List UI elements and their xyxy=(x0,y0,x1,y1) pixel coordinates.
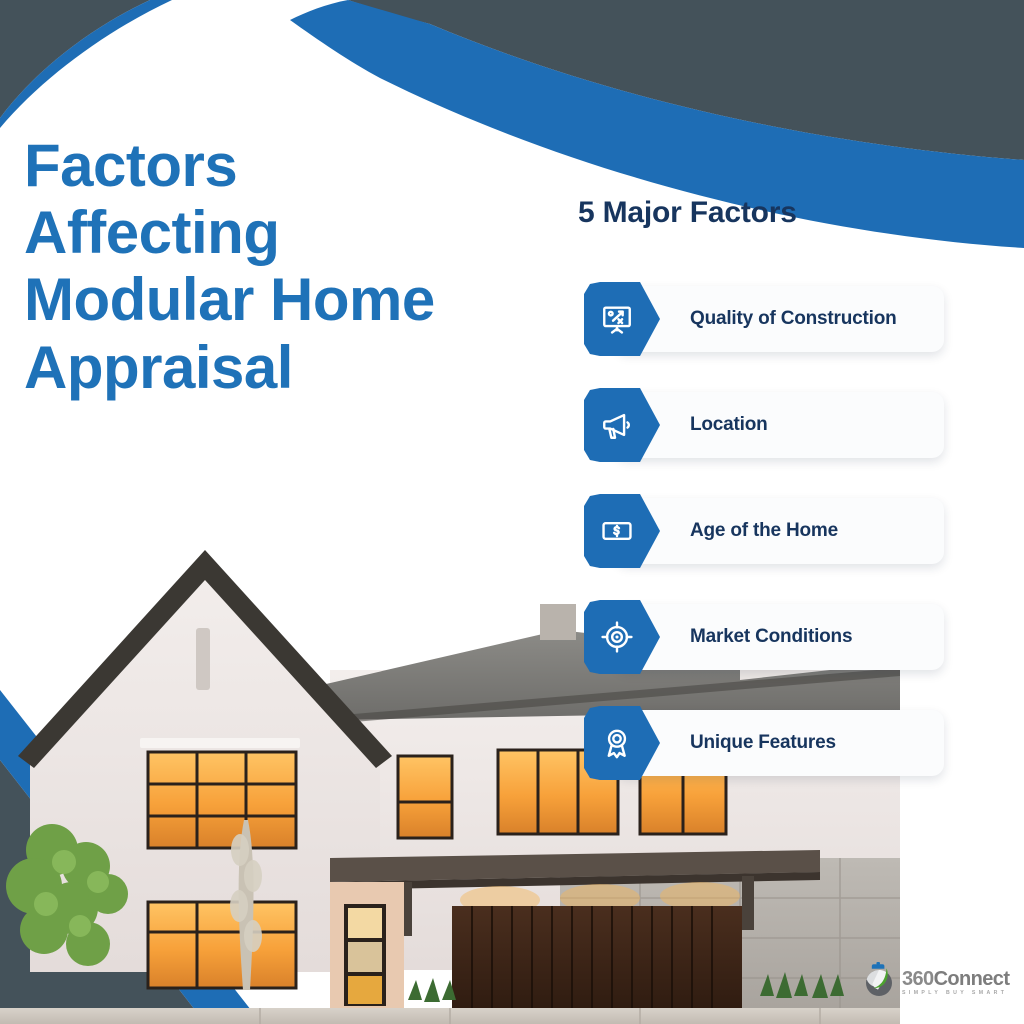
factor-label: Age of the Home xyxy=(690,520,838,542)
logo-tagline: SIMPLY BUY SMART xyxy=(902,991,1009,996)
factors-list: Quality of Construction Location xyxy=(584,282,944,812)
card-background xyxy=(616,392,944,458)
title-line-3: Modular Home xyxy=(24,266,564,333)
infographic-canvas: Factors Affecting Modular Home Appraisal… xyxy=(0,0,1024,1024)
factors-heading: 5 Major Factors xyxy=(578,196,797,230)
logo-number: 360 xyxy=(902,968,934,990)
megaphone-icon xyxy=(610,408,634,442)
factor-card-location[interactable]: Location xyxy=(584,388,944,462)
globe-leaf-icon xyxy=(862,962,896,1003)
factor-label: Market Conditions xyxy=(690,626,852,648)
award-ribbon-icon xyxy=(610,726,634,760)
title-line-2: Affecting xyxy=(24,199,564,266)
top-left-slate-corner xyxy=(0,0,150,118)
target-crosshair-icon xyxy=(610,620,634,654)
top-left-blue-line xyxy=(0,0,172,128)
factor-label: Location xyxy=(690,414,768,436)
logo-name: Connect xyxy=(934,968,1010,990)
brand-logo[interactable]: 360Connect SIMPLY BUY SMART xyxy=(862,962,1009,1003)
logo-word-line: 360Connect xyxy=(902,968,1009,990)
title-line-1: Factors xyxy=(24,132,564,199)
factor-card-age-of-the-home[interactable]: Age of the Home xyxy=(584,494,944,568)
dollar-bill-icon xyxy=(610,514,634,548)
factor-card-market-conditions[interactable]: Market Conditions xyxy=(584,600,944,674)
factor-card-unique-features[interactable]: Unique Features xyxy=(584,706,944,780)
title-line-4: Appraisal xyxy=(24,334,564,401)
factor-label: Quality of Construction xyxy=(690,308,897,330)
page-title: Factors Affecting Modular Home Appraisal xyxy=(24,132,564,401)
factor-card-quality-of-construction[interactable]: Quality of Construction xyxy=(584,282,944,356)
factor-label: Unique Features xyxy=(690,732,836,754)
presentation-chart-icon xyxy=(610,302,634,336)
logo-wordmark: 360Connect SIMPLY BUY SMART xyxy=(902,969,1009,996)
